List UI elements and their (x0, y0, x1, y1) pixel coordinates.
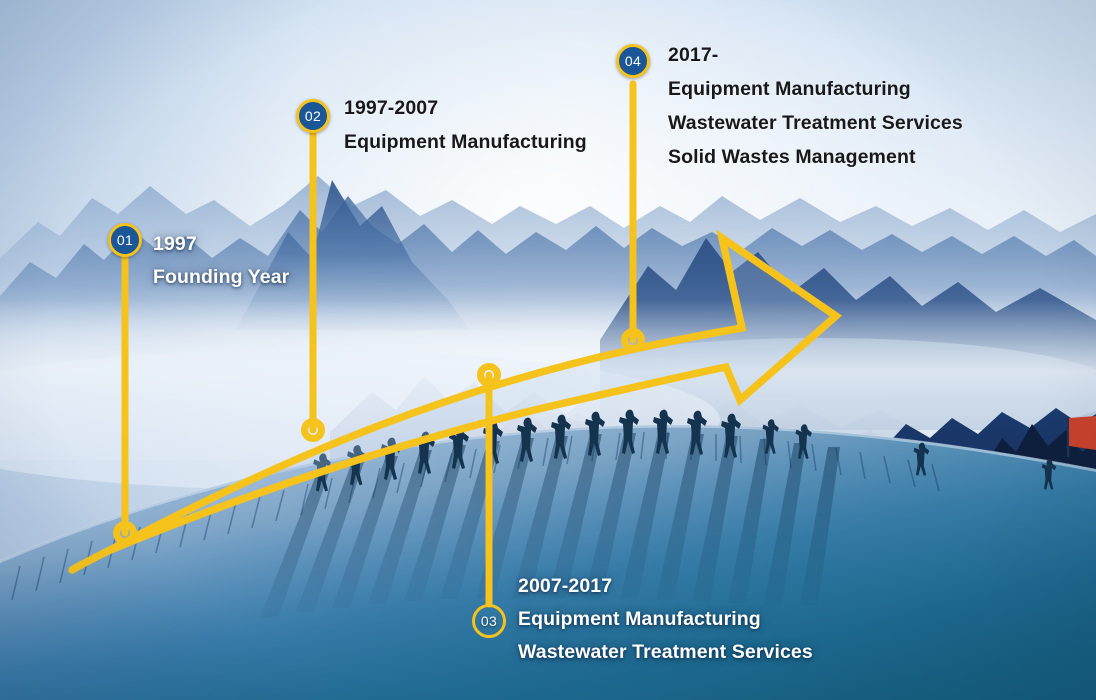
milestone-03-line-3: Wastewater Treatment Services (518, 636, 813, 669)
milestone-badge-01[interactable]: 01 (108, 223, 142, 257)
milestone-03-line-2: Equipment Manufacturing (518, 603, 813, 636)
arrow-tail-flick (72, 551, 108, 570)
milestone-02-line-2: Equipment Manufacturing (344, 125, 587, 159)
milestone-text-01: 1997 Founding Year (153, 228, 289, 294)
milestone-badge-02-number: 02 (305, 108, 321, 124)
milestone-04-line-4: Solid Wastes Management (668, 140, 963, 174)
milestone-03-line-1: 2007-2017 (518, 570, 813, 603)
milestone-infographic: 01 02 03 04 1997 Founding Year 1997-2007… (0, 0, 1096, 700)
milestone-badge-02[interactable]: 02 (296, 99, 330, 133)
milestone-text-03: 2007-2017 Equipment Manufacturing Wastew… (518, 570, 813, 669)
milestone-04-line-2: Equipment Manufacturing (668, 72, 963, 106)
milestone-01-line-1: 1997 (153, 228, 289, 261)
milestone-badge-01-number: 01 (117, 232, 133, 248)
milestone-text-04: 2017- Equipment Manufacturing Wastewater… (668, 38, 963, 174)
milestone-text-02: 1997-2007 Equipment Manufacturing (344, 91, 587, 159)
milestone-04-line-1: 2017- (668, 38, 963, 72)
milestone-badge-04[interactable]: 04 (616, 44, 650, 78)
milestone-04-line-3: Wastewater Treatment Services (668, 106, 963, 140)
milestone-badge-03[interactable]: 03 (472, 604, 506, 638)
milestone-01-line-2: Founding Year (153, 261, 289, 294)
milestone-02-line-1: 1997-2007 (344, 91, 587, 125)
milestone-badge-03-number: 03 (481, 613, 497, 629)
milestone-badge-04-number: 04 (625, 53, 641, 69)
